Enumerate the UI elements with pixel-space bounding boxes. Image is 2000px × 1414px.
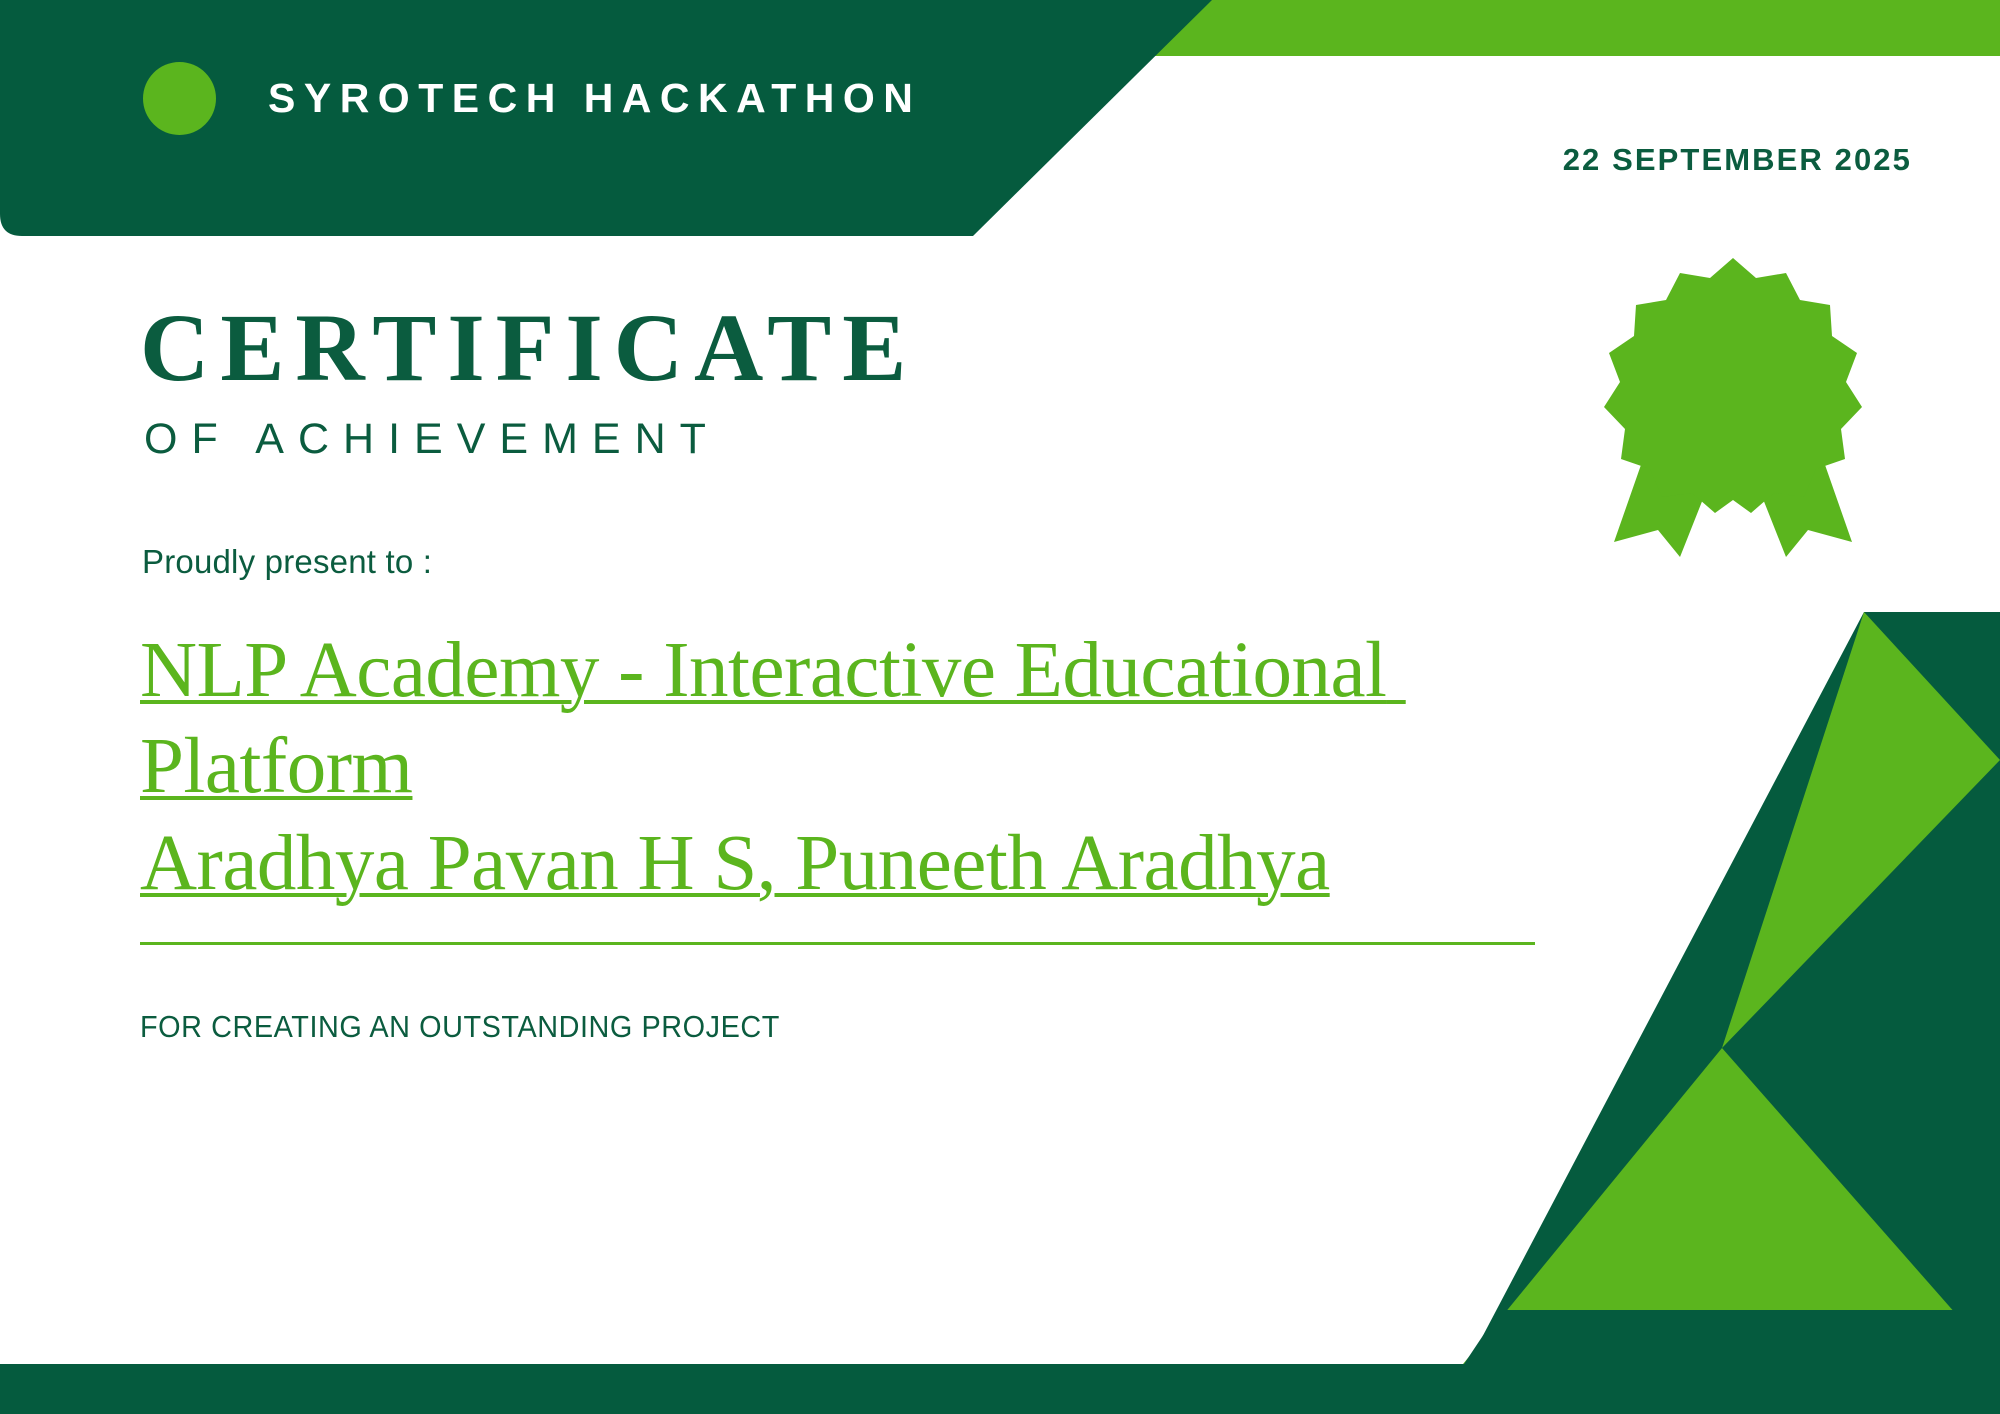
- divider-rule: [140, 942, 1535, 945]
- page-title: CERTIFICATE: [140, 300, 1660, 396]
- header-brand: SYROTECH HACKATHON: [0, 0, 1220, 236]
- footer-bar: [0, 1310, 2000, 1414]
- recipient-person-names: Aradhya Pavan H S, Puneeth Aradhya: [140, 816, 1660, 912]
- recipient-block: NLP Academy - Interactive Educational Pl…: [140, 623, 1660, 912]
- certificate-body: CERTIFICATE OF ACHIEVEMENT Proudly prese…: [140, 300, 1660, 1045]
- circle-icon: [143, 62, 216, 135]
- corner-shape-bright-lower: [1463, 1048, 2000, 1364]
- event-date: 22 SEPTEMBER 2025: [1563, 142, 1912, 178]
- header-accent-strip: [1148, 0, 2000, 56]
- brand-title: SYROTECH HACKATHON: [268, 75, 921, 122]
- present-to-label: Proudly present to :: [142, 543, 1660, 581]
- achievement-reason: FOR CREATING AN OUTSTANDING PROJECT: [140, 1009, 1554, 1045]
- page-subtitle: OF ACHIEVEMENT: [144, 418, 1660, 461]
- recipient-project-name: NLP Academy - Interactive Educational Pl…: [140, 623, 1660, 816]
- corner-shape-bright-upper: [1722, 612, 2000, 1048]
- certificate-page: SYROTECH HACKATHON 22 SEPTEMBER 2025 CER…: [0, 0, 2000, 1414]
